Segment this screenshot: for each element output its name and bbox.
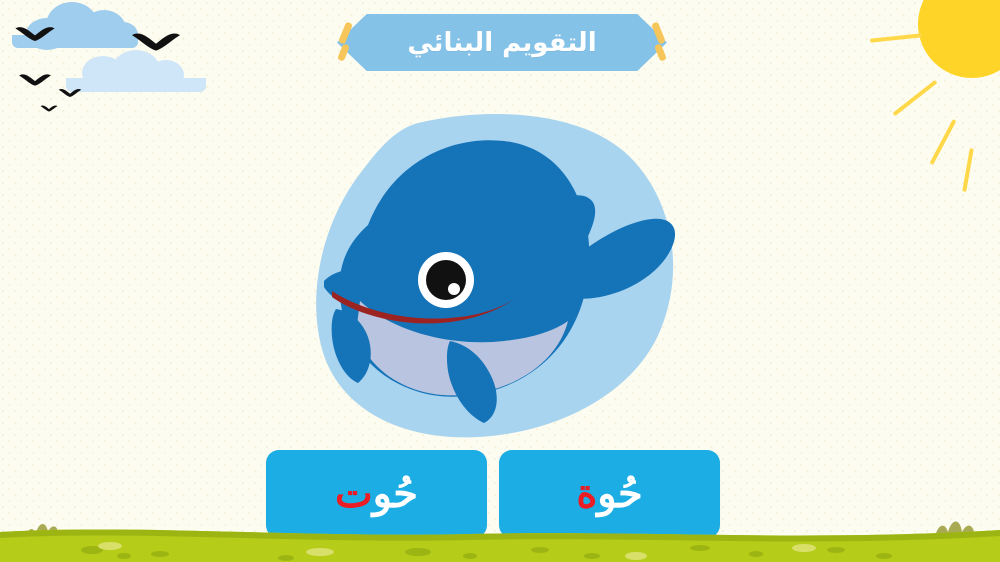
answer-stem-right: حُو [373,472,418,516]
answer-tail-letter-right: ت [335,472,373,516]
grass-strip [0,512,1000,562]
sun-ray-icon [892,80,937,116]
sun-ray-icon [962,148,974,192]
whale-eye-highlight [448,283,460,295]
answer-tail-letter-left: ة [576,472,597,516]
sun-ray-icon [929,119,956,165]
answer-word-right: حُوت [335,474,418,514]
whale-illustration [300,105,700,445]
bird-icon [18,72,52,88]
page-title-banner: التقويم البنائي [337,14,667,71]
answer-stem-left: حُو [597,472,642,516]
bird-icon [14,24,56,44]
bird-icon [130,30,182,54]
sun-icon [918,0,1000,78]
bird-icon [40,98,58,107]
bird-icon [58,84,82,96]
sun-ray-icon [870,33,922,42]
answer-word-left: حُوة [576,474,642,514]
page-title: التقويم البنائي [337,14,667,71]
game-screen: التقويم البنائي [0,0,1000,562]
whale-eye-pupil [426,260,466,300]
